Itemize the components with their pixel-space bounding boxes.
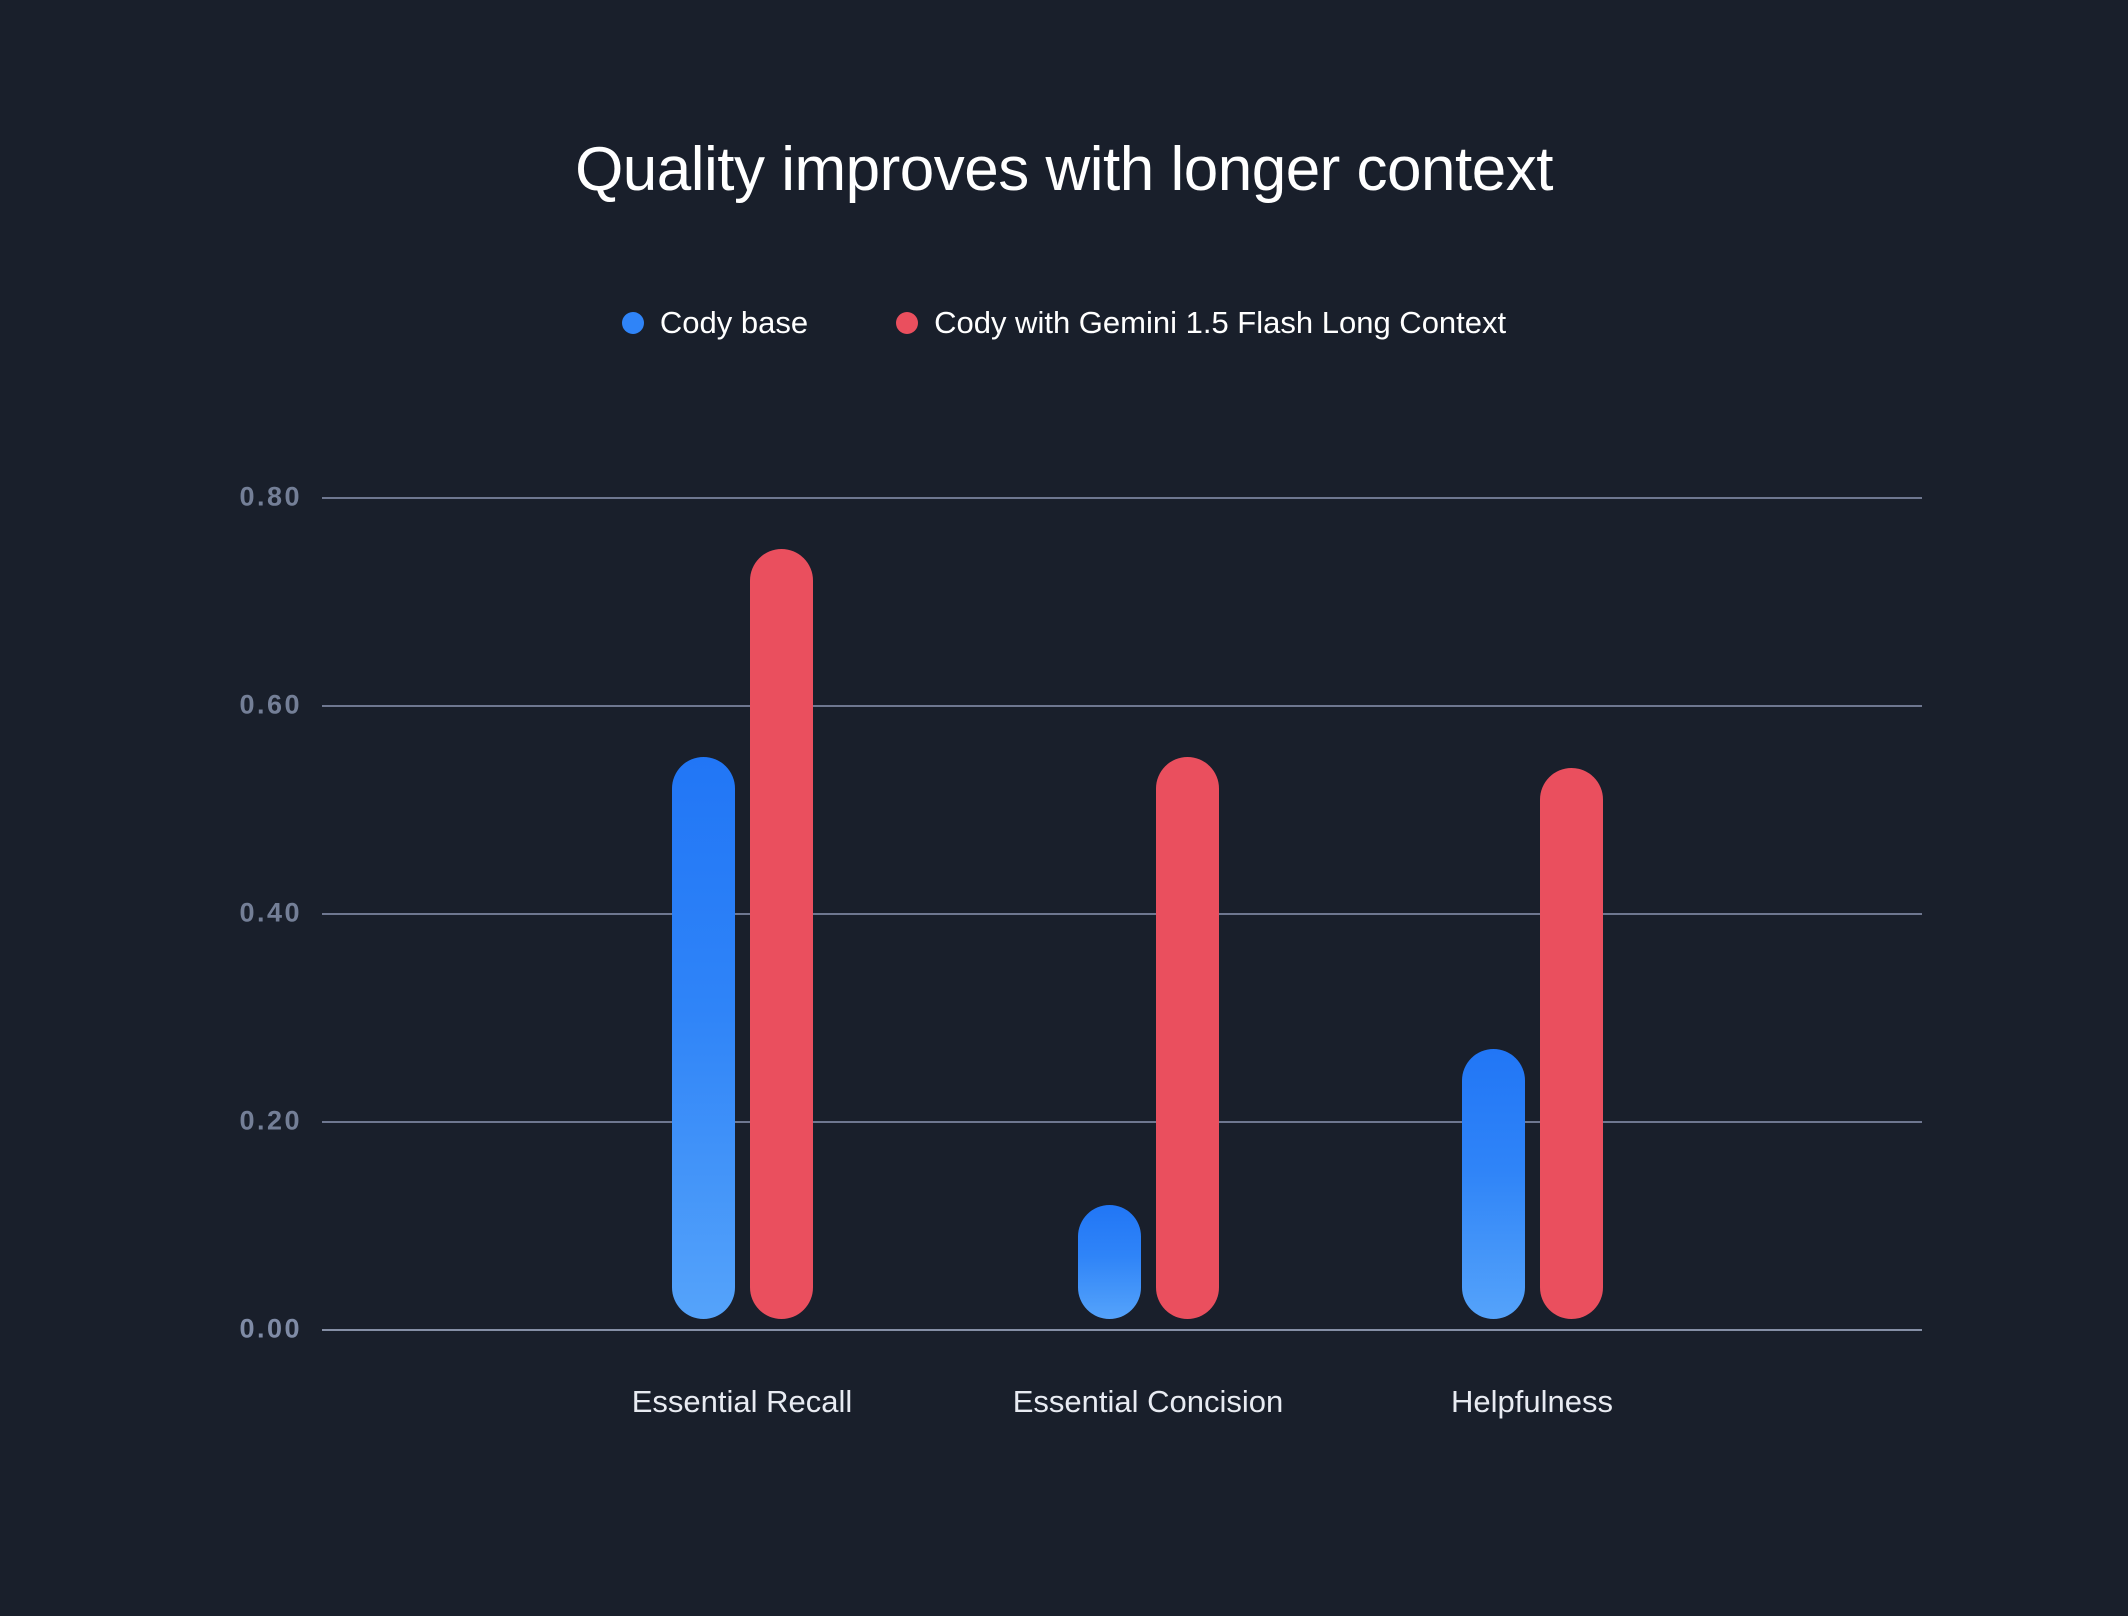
- bar-essential-concision-cody-with-gemini-1-5-flash-long-context[interactable]: [1156, 757, 1219, 1319]
- bar-helpfulness-cody-base[interactable]: [1462, 1049, 1525, 1319]
- ytick-label-0.80: 0.80: [192, 482, 302, 513]
- ytick-label-0.40: 0.40: [192, 898, 302, 929]
- ytick-label-0.60: 0.60: [192, 690, 302, 721]
- gridline-0.40: 0.40: [322, 913, 1922, 915]
- bar-essential-recall-cody-with-gemini-1-5-flash-long-context[interactable]: [750, 549, 813, 1319]
- gridline-0.00-baseline: 0.00: [322, 1329, 1922, 1331]
- plot-area: 0.80 0.60 0.40 0.20 0.00: [322, 497, 1922, 1329]
- category-label-helpfulness: Helpfulness: [1451, 1384, 1613, 1420]
- legend-item-cody-base[interactable]: Cody base: [622, 305, 808, 341]
- legend-label-cody-base: Cody base: [660, 305, 808, 341]
- legend-swatch-icon-cody-base: [622, 312, 644, 334]
- chart-title: Quality improves with longer context: [0, 136, 2128, 204]
- legend-item-cody-gemini[interactable]: Cody with Gemini 1.5 Flash Long Context: [896, 305, 1506, 341]
- category-label-essential-concision: Essential Concision: [1013, 1384, 1284, 1420]
- legend-label-cody-gemini: Cody with Gemini 1.5 Flash Long Context: [934, 305, 1506, 341]
- category-label-essential-recall: Essential Recall: [632, 1384, 853, 1420]
- chart-legend: Cody base Cody with Gemini 1.5 Flash Lon…: [0, 305, 2128, 341]
- gridline-0.80: 0.80: [322, 497, 1922, 499]
- chart-canvas: Quality improves with longer context Cod…: [0, 0, 2128, 1616]
- gridline-0.20: 0.20: [322, 1121, 1922, 1123]
- bar-essential-concision-cody-base[interactable]: [1078, 1205, 1141, 1319]
- gridline-0.60: 0.60: [322, 705, 1922, 707]
- bar-essential-recall-cody-base[interactable]: [672, 757, 735, 1319]
- ytick-label-0.20: 0.20: [192, 1106, 302, 1137]
- ytick-label-0.00: 0.00: [192, 1314, 302, 1345]
- bar-helpfulness-cody-with-gemini-1-5-flash-long-context[interactable]: [1540, 768, 1603, 1319]
- legend-swatch-icon-cody-gemini: [896, 312, 918, 334]
